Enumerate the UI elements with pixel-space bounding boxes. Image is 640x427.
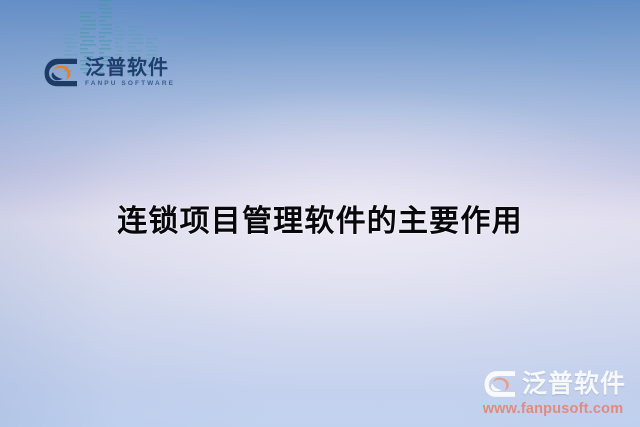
company-name-en: FANPU SOFTWARE (85, 81, 175, 88)
watermark-name-cn: 泛普软件 (522, 372, 626, 397)
company-logo-text: 泛普软件 FANPU SOFTWARE (85, 58, 175, 88)
company-logo: 泛普软件 FANPU SOFTWARE (44, 58, 175, 88)
company-name-cn: 泛普软件 (85, 58, 175, 78)
fanpu-logo-mark-icon (44, 58, 78, 87)
watermark-logo-row: 泛普软件 (478, 370, 628, 398)
watermark: 泛普软件 www.fanpusoft.com (478, 370, 628, 417)
fanpu-logo-mark-watermark-icon (484, 370, 516, 398)
watermark-url: www.fanpusoft.com (478, 401, 628, 417)
slide-title: 连锁项目管理软件的主要作用 (0, 196, 640, 240)
slide-canvas: 泛普软件 FANPU SOFTWARE 连锁项目管理软件的主要作用 泛普软件 w… (0, 0, 640, 427)
